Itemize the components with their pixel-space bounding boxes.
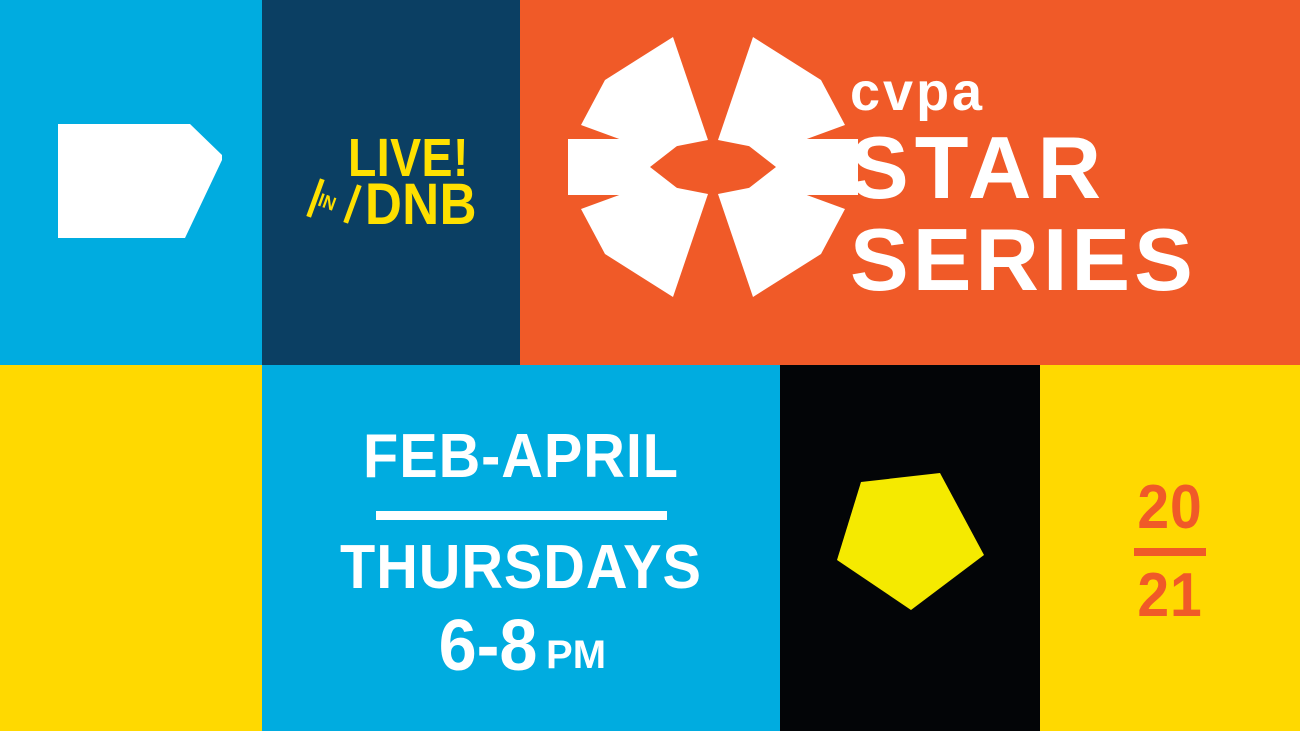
year-divider-rule	[1134, 548, 1206, 556]
arrow-panel	[0, 0, 262, 365]
year-second-text: 21	[1050, 564, 1289, 628]
arrow-pennant-icon	[58, 124, 222, 238]
dates-panel: FEB-APRIL THURSDAYS 6-8PM	[262, 365, 780, 731]
brand-cvpa-text: cvpa	[850, 64, 1280, 120]
date-range-text: FEB-APRIL	[280, 426, 762, 488]
date-meridiem-text: PM	[546, 635, 606, 675]
brand-panel: cvpa STAR SERIES	[520, 0, 1300, 365]
year-panel: 20 21	[1040, 365, 1300, 731]
year-first-text: 20	[1050, 476, 1289, 540]
date-time-text: 6-8	[439, 610, 538, 682]
date-divider-rule	[376, 511, 667, 520]
date-day-text: THURSDAYS	[280, 537, 762, 599]
live-lockup: LIVE! IN DNB	[262, 0, 520, 365]
in-slash-mark: IN	[309, 178, 361, 224]
venue-word: DNB	[365, 176, 477, 234]
year-lockup: 20 21	[1040, 476, 1300, 628]
slash-right-icon	[343, 184, 361, 223]
grid-panel	[0, 365, 262, 731]
brand-wordmark: cvpa STAR SERIES	[850, 64, 1280, 306]
pentagon-icon	[837, 460, 984, 610]
brand-series-text: SERIES	[850, 214, 1280, 306]
date-time-row: 6-8PM	[262, 610, 780, 682]
pentagon-panel	[780, 365, 1040, 731]
brand-star-text: STAR	[850, 122, 1280, 214]
poster-canvas: LIVE! IN DNB cvpa STAR	[0, 0, 1300, 731]
live-panel: LIVE! IN DNB	[262, 0, 520, 365]
schedule-lockup: FEB-APRIL THURSDAYS 6-8PM	[262, 365, 780, 731]
star-asterisk-logo-icon	[568, 22, 858, 312]
